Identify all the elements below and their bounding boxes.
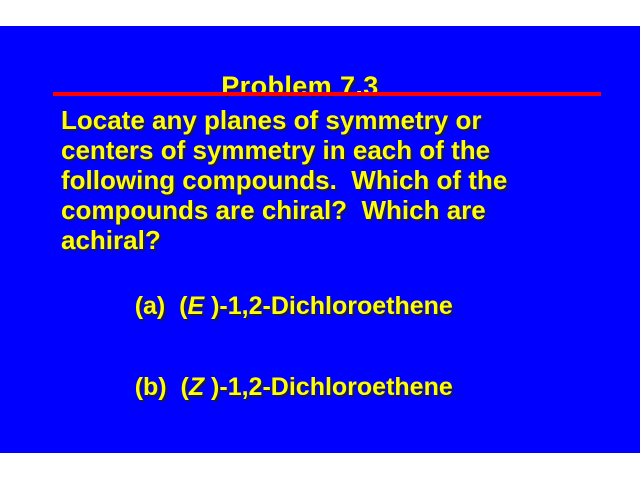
- list-item-name: )-1,2-Dichloroethene: [204, 373, 453, 401]
- title-divider-rule: [53, 92, 601, 96]
- paragraph-line-1: Locate any planes of symmetry or: [61, 105, 621, 135]
- question-paragraph: Locate any planes of symmetry or centers…: [61, 105, 621, 255]
- paragraph-line-5: achiral?: [61, 225, 621, 255]
- list-item-descriptor: E: [187, 292, 204, 320]
- list-item-descriptor: Z: [189, 373, 204, 401]
- list-item: (a) (E )-1,2-Dichloroethene: [93, 266, 638, 347]
- list-item: (b) (Z )-1,2-Dichloroethene: [93, 347, 638, 428]
- paragraph-line-4: compounds are chiral? Which are: [61, 195, 621, 225]
- paragraph-line-2: centers of symmetry in each of the: [61, 135, 621, 165]
- paragraph-line-3: following compounds. Which of the: [61, 165, 621, 195]
- list-item-marker: (a): [135, 292, 166, 320]
- list-item: (c) cis -1,2-Dichlorocyclopropane: [93, 428, 638, 453]
- list-item-marker: (b): [135, 373, 167, 401]
- compound-list: (a) (E )-1,2-Dichloroethene (b) (Z )-1,2…: [93, 266, 638, 453]
- slide-canvas: Problem 7.3 Locate any planes of symmetr…: [0, 26, 640, 453]
- list-item-name: )-1,2-Dichloroethene: [204, 292, 453, 320]
- list-item-prefix: (: [167, 373, 189, 401]
- slide-title: Problem 7.3: [0, 71, 600, 101]
- list-item-prefix: (: [165, 292, 187, 320]
